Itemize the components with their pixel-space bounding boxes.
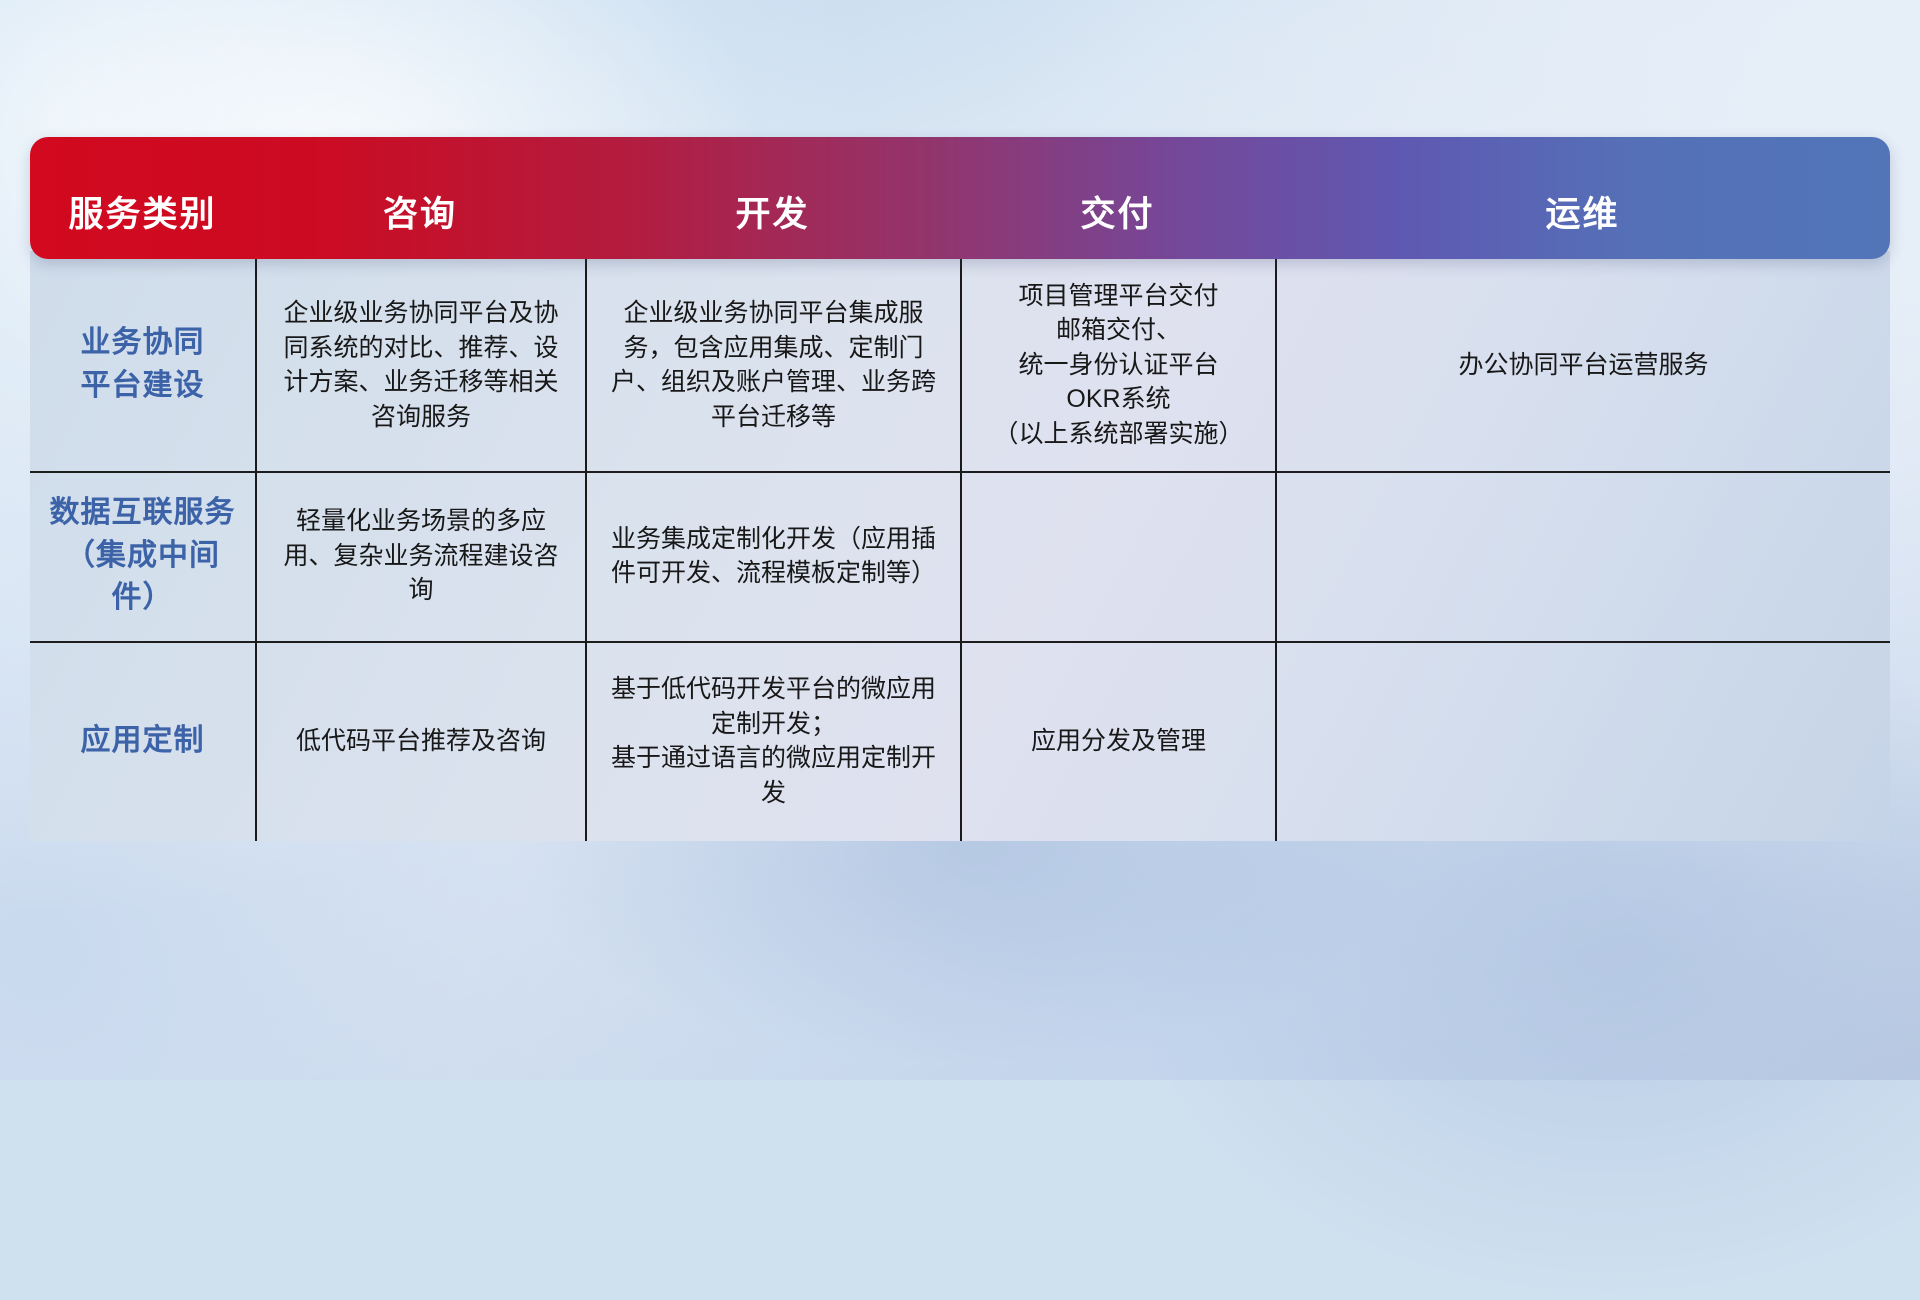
- cell-operations-row1: 办公协同平台运营服务: [1275, 259, 1890, 471]
- cell-delivery-row1: 项目管理平台交付 邮箱交付、 统一身份认证平台 OKR系统 （以上系统部署实施）: [960, 259, 1275, 471]
- table-header-row: 服务类别 咨询 开发 交付 运维: [30, 137, 1890, 259]
- service-matrix-table: 服务类别 咨询 开发 交付 运维 业务协同 平台建设 企业级业务协同平台及协同系…: [30, 137, 1890, 841]
- column-header-operations: 运维: [1275, 137, 1890, 259]
- cell-delivery-row2: [960, 471, 1275, 641]
- table-body: 业务协同 平台建设 企业级业务协同平台及协同系统的对比、推荐、设计方案、业务迁移…: [30, 251, 1890, 841]
- cell-operations-row3: [1275, 641, 1890, 841]
- cell-consulting-row1: 企业级业务协同平台及协同系统的对比、推荐、设计方案、业务迁移等相关咨询服务: [255, 259, 585, 471]
- table-row: 数据互联服务 （集成中间件） 轻量化业务场景的多应用、复杂业务流程建设咨询 业务…: [30, 471, 1890, 641]
- row-label-data-interconnect: 数据互联服务 （集成中间件）: [30, 471, 255, 641]
- cell-consulting-row3: 低代码平台推荐及咨询: [255, 641, 585, 841]
- row-label-app-customization: 应用定制: [30, 641, 255, 841]
- cell-consulting-row2: 轻量化业务场景的多应用、复杂业务流程建设咨询: [255, 471, 585, 641]
- table-row: 业务协同 平台建设 企业级业务协同平台及协同系统的对比、推荐、设计方案、业务迁移…: [30, 259, 1890, 471]
- column-header-delivery: 交付: [960, 137, 1275, 259]
- column-header-consulting: 咨询: [255, 137, 585, 259]
- table-row: 应用定制 低代码平台推荐及咨询 基于低代码开发平台的微应用定制开发； 基于通过语…: [30, 641, 1890, 841]
- column-header-category: 服务类别: [30, 137, 255, 259]
- cell-operations-row2: [1275, 471, 1890, 641]
- cell-development-row2: 业务集成定制化开发（应用插件可开发、流程模板定制等）: [585, 471, 960, 641]
- column-header-development: 开发: [585, 137, 960, 259]
- cell-development-row1: 企业级业务协同平台集成服务，包含应用集成、定制门户、组织及账户管理、业务跨平台迁…: [585, 259, 960, 471]
- cell-development-row3: 基于低代码开发平台的微应用定制开发； 基于通过语言的微应用定制开发: [585, 641, 960, 841]
- cell-delivery-row3: 应用分发及管理: [960, 641, 1275, 841]
- row-label-business-collaboration: 业务协同 平台建设: [30, 259, 255, 471]
